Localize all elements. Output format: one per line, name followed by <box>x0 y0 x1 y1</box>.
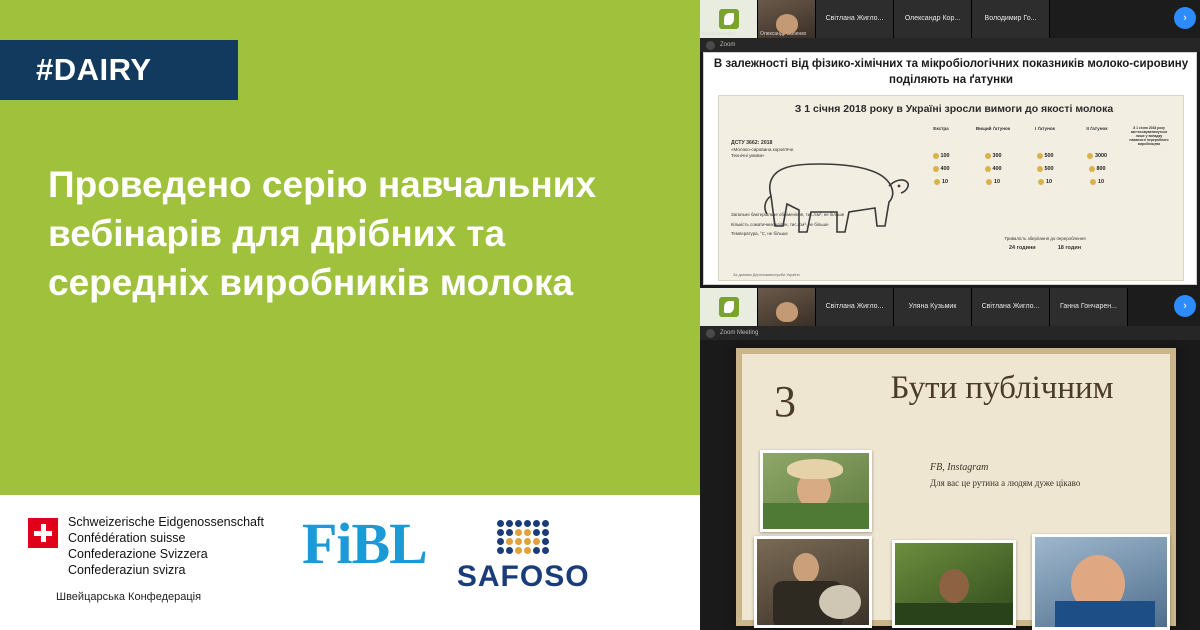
slide-source: За даними Дерспоживслужби України <box>733 273 800 277</box>
indicator-item: Температура, °С, не більше <box>731 231 881 238</box>
webinar-screenshot-bottom: Світлана Жигло... Уляна Кузьмик Світлана… <box>700 288 1200 630</box>
participant-tile: Олександр Бабенко <box>758 0 816 38</box>
footer-band: Schweizerische Eidgenossenschaft Confédé… <box>0 495 700 630</box>
toolbar-label: Zoom <box>720 42 735 48</box>
participant-tile: Марія Івченко <box>700 0 758 38</box>
participant-name: Світлана Жигло... <box>824 15 886 23</box>
swiss-line-fr: Confédération suisse <box>68 530 264 546</box>
mute-icon[interactable] <box>706 329 715 338</box>
hashtag-badge: #DAIRY <box>0 40 238 100</box>
slide-caption: Для вас це рутина а людям дуже цікаво <box>930 478 1170 488</box>
more-participants-icon[interactable]: › <box>1174 295 1196 317</box>
grade-table-header: Екстра Вищий ґатунок І ґатунок ІІ ґатуно… <box>915 126 1175 146</box>
indicator-item: Загальне бактеріальне обсіменіння, тис./… <box>731 212 881 219</box>
participant-tile: Володимир Го... <box>972 0 1050 38</box>
column-header: І ґатунок <box>1023 126 1067 146</box>
logo-row: Schweizerische Eidgenossenschaft Confédé… <box>28 514 688 608</box>
swiss-line-de: Schweizerische Eidgenossenschaft <box>68 514 264 530</box>
cell: 400 <box>971 166 1015 172</box>
hashtag-label: #DAIRY <box>36 52 152 88</box>
participant-strip-bottom: Світлана Жигло... Уляна Кузьмик Світлана… <box>700 288 1200 326</box>
swiss-line-it: Confederazione Svizzera <box>68 546 264 562</box>
slide-subtitle: FB, Instagram <box>930 462 988 473</box>
zoom-toolbar-bottom: Zoom Meeting <box>700 326 1200 340</box>
cell: 10 <box>919 179 963 185</box>
cell: 10 <box>1075 179 1119 185</box>
participant-name: Олександр Бабенко <box>760 31 806 37</box>
toolbar-label: Zoom Meeting <box>720 330 758 336</box>
fibl-logo: FiBL <box>302 516 427 571</box>
slide-card: З 1 січня 2018 року в Україні зросли вим… <box>718 95 1184 281</box>
participant-name: Марія Івченко <box>702 31 734 37</box>
swiss-line-ua: Швейцарська Конфедерація <box>28 591 264 603</box>
participant-name: Світлана Жигло... <box>824 303 886 311</box>
leaf-logo-icon <box>719 297 739 317</box>
slide-title: Бути публічним <box>852 368 1152 409</box>
cell: 10 <box>971 179 1015 185</box>
zoom-toolbar-top: Zoom <box>700 38 1200 52</box>
cell: 10 <box>1023 179 1067 185</box>
safoso-logo: SAFOSO <box>457 520 590 594</box>
right-panel: Марія Івченко Олександр Бабенко Світлана… <box>700 0 1200 630</box>
participant-name: Олександр Кор... <box>903 15 962 23</box>
cell: 3000 <box>1075 153 1119 159</box>
storage-note-value: 24 години <box>1009 245 1036 253</box>
presentation-slide-bottom: 3 Бути публічним FB, Instagram Для вас ц… <box>736 348 1176 626</box>
cell: 100 <box>919 153 963 159</box>
cell: 800 <box>1075 166 1119 172</box>
indicator-list: Загальне бактеріальне обсіменіння, тис./… <box>731 212 881 241</box>
slide-header: В залежності від фізико-хімічних та мікр… <box>712 57 1190 88</box>
photo-field-man <box>892 540 1016 628</box>
table-row: 10 10 10 10 <box>915 179 1175 185</box>
cell: 500 <box>1023 153 1067 159</box>
left-panel: #DAIRY Проведено серію навчальних вебіна… <box>0 0 700 630</box>
slide-number: 3 <box>774 376 796 427</box>
participant-tile: Уляна Кузьмик <box>894 288 972 326</box>
column-header-note: З 1 січня 2018 року застосовуватимуться … <box>1127 126 1171 146</box>
participant-name: Світлана Жигло... <box>980 303 1042 311</box>
presentation-slide-top: В залежності від фізико-хімічних та мікр… <box>703 52 1197 285</box>
cell: 400 <box>919 166 963 172</box>
participant-tile: Світлана Жигло... <box>816 288 894 326</box>
photo-farmer-hat <box>760 450 872 532</box>
participant-tile: Олександр Кор... <box>894 0 972 38</box>
photo-laughing-man <box>1032 534 1170 630</box>
mute-icon[interactable] <box>706 41 715 50</box>
participant-tile: Світлана Жигло... <box>816 0 894 38</box>
photo-shepherd-sheep <box>754 536 872 628</box>
table-row: 400 400 500 800 <box>915 166 1175 172</box>
swiss-flag-icon <box>28 518 58 548</box>
swiss-line-rm: Confederaziun svizra <box>68 562 264 578</box>
column-header: ІІ ґатунок <box>1075 126 1119 146</box>
storage-note-value: 18 годин <box>1058 245 1081 253</box>
indicator-item: Кількість соматичних клітин, тис./см³, н… <box>731 222 881 229</box>
cell: 300 <box>971 153 1015 159</box>
participant-tile: Ганна Гончарен... <box>1050 288 1128 326</box>
column-header: Вищий ґатунок <box>971 126 1015 146</box>
safoso-wordmark: SAFOSO <box>457 560 590 594</box>
column-header: Екстра <box>919 126 963 146</box>
participant-name: Уляна Кузьмик <box>907 303 959 311</box>
storage-note: Тривалість зберігання до перероблення 24… <box>915 236 1175 253</box>
webinar-screenshot-top: Марія Івченко Олександр Бабенко Світлана… <box>700 0 1200 288</box>
table-row: 100 300 500 3000 <box>915 153 1175 159</box>
participant-tile <box>758 288 816 326</box>
slide-canvas: #DAIRY Проведено серію навчальних вебіна… <box>0 0 1200 630</box>
participant-strip-top: Марія Івченко Олександр Бабенко Світлана… <box>700 0 1200 38</box>
cell: 500 <box>1023 166 1067 172</box>
swiss-confederation-logo: Schweizerische Eidgenossenschaft Confédé… <box>28 514 264 603</box>
slide-title: З 1 січня 2018 року в Україні зросли вим… <box>789 102 1119 116</box>
participant-name: Ганна Гончарен... <box>1058 303 1119 311</box>
swiss-confederation-text: Schweizerische Eidgenossenschaft Confédé… <box>68 514 264 578</box>
storage-note-label: Тривалість зберігання до перероблення <box>915 236 1175 242</box>
participant-tile: Світлана Жигло... <box>972 288 1050 326</box>
more-participants-icon[interactable]: › <box>1174 7 1196 29</box>
safoso-dots-icon <box>497 520 549 554</box>
participant-name: Володимир Го... <box>983 15 1039 23</box>
grade-table: Екстра Вищий ґатунок І ґатунок ІІ ґатуно… <box>915 126 1175 246</box>
page-title: Проведено серію навчальних вебінарів для… <box>48 160 668 308</box>
leaf-logo-icon <box>719 9 739 29</box>
participant-tile <box>700 288 758 326</box>
